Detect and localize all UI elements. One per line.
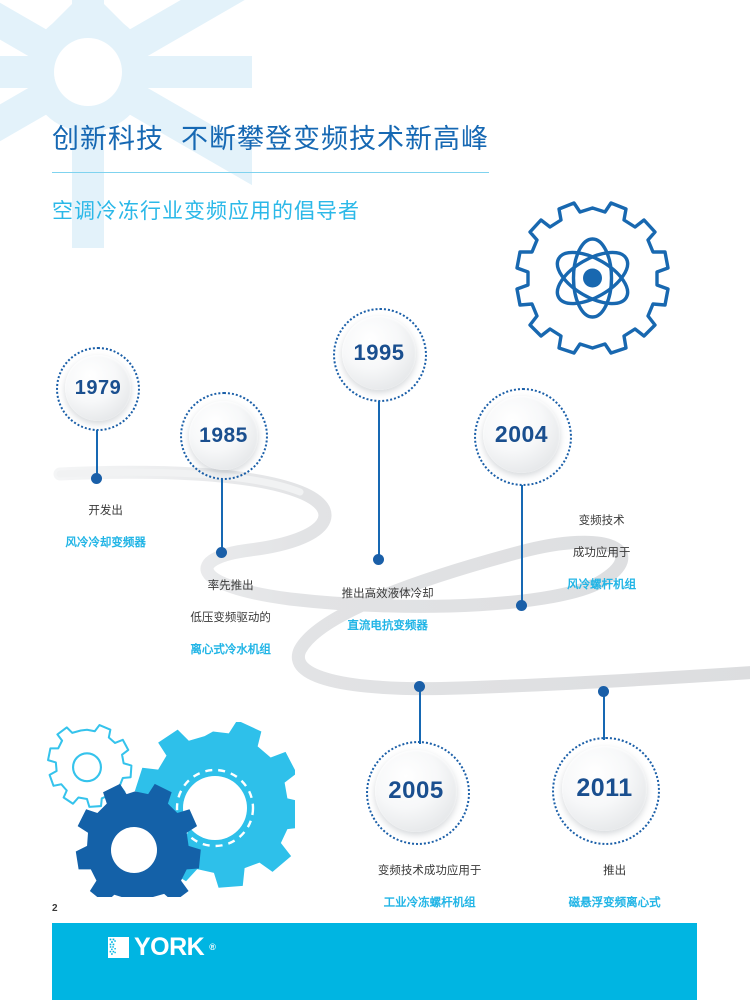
node-dot (91, 473, 102, 484)
label-line-2: 磁悬浮变频离心式 (569, 897, 661, 909)
page-title: 创新科技 不断攀登变频技术新高峰 (52, 122, 489, 156)
label-line-2: 成功应用于 (573, 547, 631, 559)
year-label: 1979 (75, 378, 122, 398)
year-label: 2004 (495, 423, 548, 446)
year-label: 2011 (576, 776, 632, 801)
milestone-label: 率先推出 低压变频驱动的 离心式冷水机组 (141, 562, 301, 674)
label-line-1: 推出高效液体冷却 (342, 588, 434, 600)
label-line-1: 变频技术 (579, 515, 625, 527)
year-bubble: 1995 (342, 316, 416, 390)
label-line-2: 低压变频驱动的 (190, 612, 271, 624)
label-line-1: 开发出 (88, 505, 123, 517)
year-bubble: 1979 (65, 355, 131, 421)
page-number: 2 (52, 903, 58, 914)
year-bubble: 2005 (375, 750, 457, 832)
trademark-symbol: ® (209, 942, 216, 952)
gear-cluster-icon (45, 722, 295, 897)
milestone-label: 变频技术 成功应用于 风冷螺杆机组 (512, 497, 672, 609)
york-logo: YORK ® (108, 934, 216, 960)
label-line-3: 风冷螺杆机组 (567, 579, 636, 591)
year-label: 2005 (388, 779, 443, 803)
label-line-1: 变频技术成功应用于 (378, 865, 482, 877)
year-bubble: 2011 (562, 746, 647, 831)
year-label: 1985 (199, 425, 248, 446)
node-dot (598, 686, 609, 697)
label-line-2: 风冷冷却变频器 (65, 537, 146, 549)
york-snowflake-logo-icon (108, 937, 129, 958)
node-dot (216, 547, 227, 558)
slide-page: 创新科技 不断攀登变频技术新高峰 空调冷冻行业变频应用的倡导者 (0, 0, 750, 1000)
page-subtitle: 空调冷冻行业变频应用的倡导者 (52, 198, 360, 226)
label-line-3: 离心式冷水机组 (190, 644, 271, 656)
node-stem (603, 693, 605, 740)
node-stem (378, 401, 380, 560)
node-dot (373, 554, 384, 565)
label-line-1: 推出 (603, 865, 626, 877)
year-bubble: 2004 (483, 396, 560, 473)
milestone-label: 开发出 风冷冷却变频器 (16, 487, 176, 567)
label-line-2: 工业冷冻螺杆机组 (384, 897, 476, 909)
gear-atom-icon (505, 200, 680, 375)
footer-bar: YORK ® (52, 923, 697, 1000)
york-wordmark: YORK (134, 935, 204, 960)
milestone-label: 变频技术成功应用于 工业冷冻螺杆机组 (336, 847, 504, 927)
title-divider (52, 172, 489, 173)
node-stem (221, 479, 223, 553)
year-bubble: 1985 (189, 401, 258, 470)
milestone-label: 推出高效液体冷却 直流电抗变频器 (298, 570, 458, 650)
label-line-2: 直流电抗变频器 (347, 620, 428, 632)
year-label: 1995 (354, 342, 405, 364)
node-dot (414, 681, 425, 692)
node-stem (419, 688, 421, 744)
label-line-1: 率先推出 (208, 580, 254, 592)
